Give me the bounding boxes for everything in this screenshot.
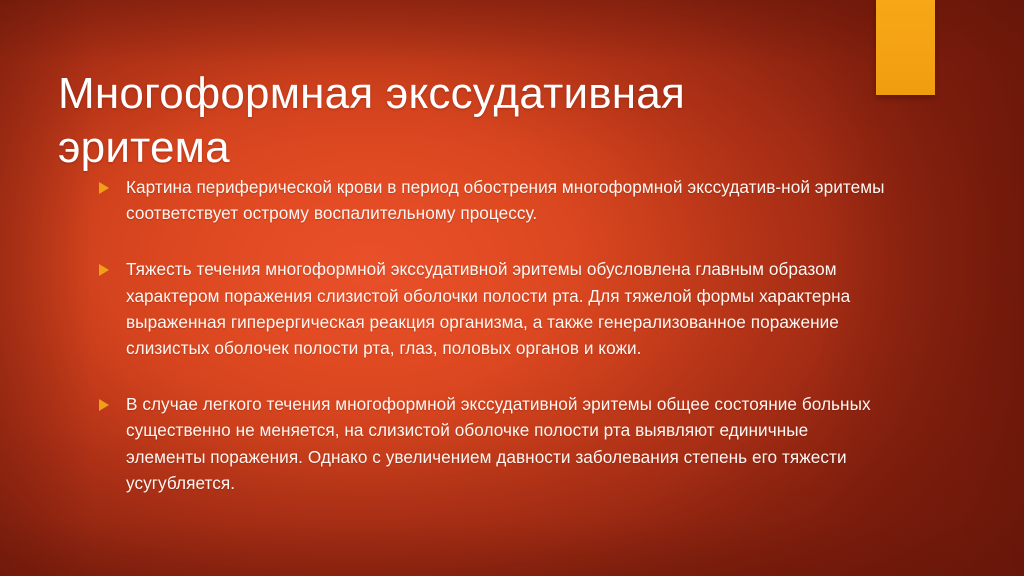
list-item: Картина периферической крови в период об… [96,174,886,226]
bullet-text: Картина периферической крови в период об… [126,174,886,226]
slide-title: Многоформная экссудативная эритема [58,67,848,175]
list-item: В случае легкого течения многоформной эк… [96,391,886,496]
bullet-text: В случае легкого течения многоформной эк… [126,391,886,496]
triangle-right-bullet-icon [99,182,109,194]
bullet-list: Картина периферической крови в период об… [96,174,886,496]
triangle-right-bullet-icon [99,264,109,276]
triangle-right-bullet-icon [99,399,109,411]
list-item: Тяжесть течения многоформной экссудативн… [96,256,886,361]
bullet-text: Тяжесть течения многоформной экссудативн… [126,256,886,361]
accent-bar-decoration [876,0,935,95]
presentation-slide: Многоформная экссудативная эритема Карти… [0,0,1024,576]
